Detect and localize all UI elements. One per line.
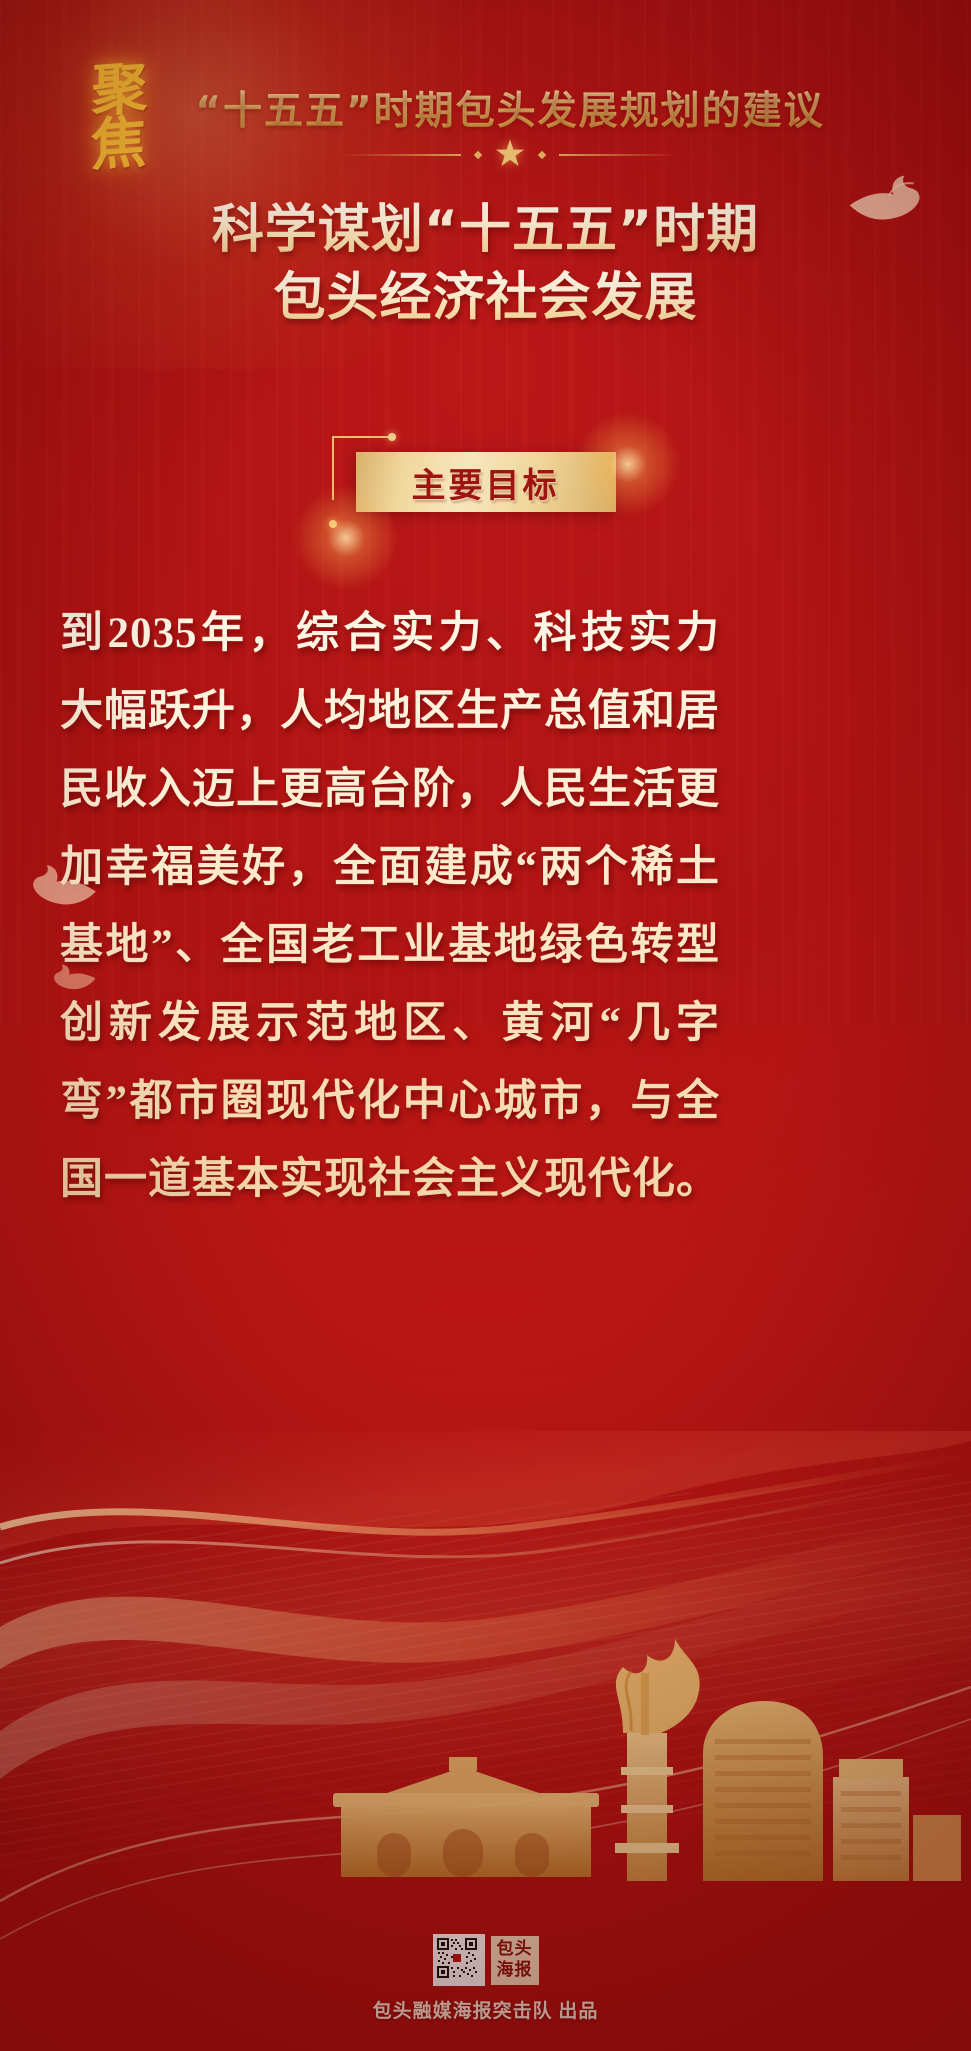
divider-line-left [341,154,461,156]
main-title: 科学谋划“十五五”时期 包头经济社会发展 [0,196,971,332]
header-title: “十五五”时期包头发展规划的建议 [160,80,860,136]
brand-row: 包头 海报 [433,1934,539,1986]
star-icon: ★ [495,140,525,170]
main-title-line-2: 包头经济社会发展 [0,264,971,332]
header: 聚焦 “十五五”时期包头发展规划的建议 ★ [0,44,971,180]
section-badge: 主要目标 [356,452,616,512]
footer: 包头 海报 包头融媒海报突击队 出品 [0,1934,971,2023]
divider-line-right [559,154,679,156]
calligraphy-seal: 聚焦 [54,42,174,187]
qr-code-icon[interactable] [433,1934,485,1986]
spark-glow-right [568,404,688,524]
poster-canvas: 聚焦 “十五五”时期包头发展规划的建议 ★ 科学谋划“十五五”时期 包头经济社会… [0,0,971,2051]
bracket-decoration [332,436,392,500]
city-skyline [331,1581,971,1901]
ornamental-divider: ★ [160,140,860,170]
publisher-logo-line-2: 海报 [497,1960,533,1981]
bottom-illustration: 包头 海报 包头融媒海报突击队 出品 [0,1431,971,2051]
publisher-logo-line-1: 包头 [497,1939,533,1960]
credit-text: 包头融媒海报突击队 出品 [373,1996,599,2023]
section-badge-label: 主要目标 [412,458,560,507]
main-title-line-1: 科学谋划“十五五”时期 [0,196,971,264]
publisher-logo: 包头 海报 [491,1936,539,1985]
divider-dot-left [474,151,482,159]
section-badge-wrapper: 主要目标 [0,452,971,512]
spark-glow-left [286,478,406,598]
body-paragraph: 到2035年，综合实力、科技实力大幅跃升，人均地区生产总值和居民收入迈上更高台阶… [60,595,720,1219]
divider-dot-right [538,151,546,159]
